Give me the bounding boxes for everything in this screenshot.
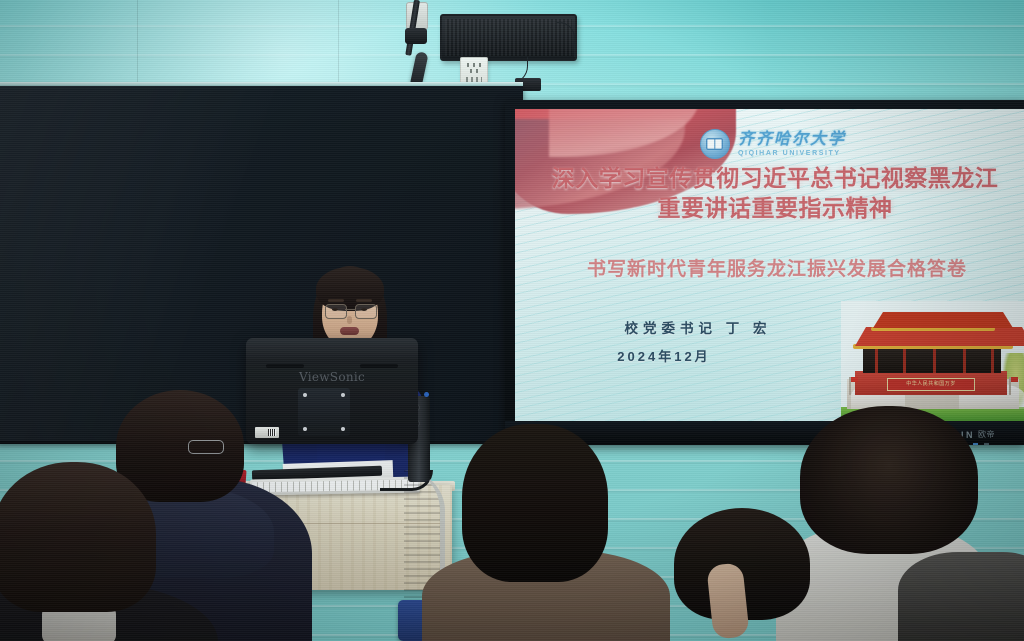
illustration-banner: 中华人民共和国万岁	[887, 378, 975, 391]
slide-title-line-2: 重要讲话重要指示精神	[523, 195, 1024, 225]
wall-seam	[137, 0, 138, 86]
vesa-screw	[341, 427, 345, 431]
slide-title-line-1: 深入学习宣传贯彻习近平总书记视察黑龙江	[523, 165, 1024, 195]
open-book-shape	[706, 138, 723, 150]
power-led-icon	[424, 392, 429, 397]
glasses-lens	[355, 304, 377, 319]
audience-hair	[462, 424, 608, 582]
presenter-eyebrow	[356, 299, 372, 302]
slide-date: 2024年12月	[515, 346, 813, 365]
monitor-vesa-plate	[298, 388, 350, 436]
illustration-column	[933, 345, 936, 373]
university-logo-text: 齐齐哈尔大学 QIQIHAR UNIVERSITY	[738, 131, 846, 157]
presenter-eyebrow	[328, 299, 344, 302]
lecture-hall-photo: 齐齐哈尔大学 QIQIHAR UNIVERSITY 深入学习宣传贯彻习近平总书记…	[0, 0, 1024, 641]
audience-vest	[898, 552, 1024, 641]
tiananmen-gate-illustration: 中华人民共和国万岁	[841, 301, 1024, 421]
audience-member-right-front	[646, 508, 846, 641]
wall-seam	[338, 0, 339, 86]
monitor-vent	[266, 364, 304, 368]
illustration-column	[991, 345, 994, 373]
university-name-cn: 齐齐哈尔大学	[738, 131, 846, 147]
interactive-flat-panel[interactable]: 齐齐哈尔大学 QIQIHAR UNIVERSITY 深入学习宣传贯彻习近平总书记…	[505, 100, 1024, 445]
university-name-en: QIQIHAR UNIVERSITY	[738, 150, 841, 157]
slide-subtitle: 书写新时代青年服务龙江振兴发展合格答卷	[523, 254, 1024, 281]
presentation-slide: 齐齐哈尔大学 QIQIHAR UNIVERSITY 深入学习宣传贯彻习近平总书记…	[515, 109, 1024, 421]
audience-member-front-left	[0, 462, 200, 641]
illustration-banner-text: 中华人民共和国万岁	[888, 379, 974, 390]
presenter-mouth	[340, 327, 359, 335]
glasses-bridge	[345, 309, 355, 310]
vesa-screw	[303, 427, 307, 431]
monitor-brand: ViewSonic	[246, 370, 418, 384]
slide-title: 深入学习宣传贯彻习近平总书记视察黑龙江 重要讲话重要指示精神	[523, 165, 1024, 225]
presenter-eye	[361, 308, 367, 311]
outlet-sockets	[466, 63, 482, 74]
illustration-flag	[1009, 377, 1011, 395]
illustration-column	[963, 345, 966, 373]
presenter-eye	[332, 308, 338, 311]
vesa-screw	[303, 393, 307, 397]
audience-hair	[0, 462, 156, 612]
presenter-nose	[347, 316, 352, 324]
illustration-column	[903, 345, 906, 373]
vesa-screw	[341, 393, 345, 397]
glasses-lens	[325, 304, 347, 319]
mic-boom-joint	[405, 28, 427, 44]
speaker-grill	[445, 19, 572, 56]
illustration-upper-roof	[873, 312, 1013, 328]
illustration-column	[875, 345, 878, 373]
book-emblem-icon	[700, 129, 730, 159]
monitor-vent	[360, 364, 398, 368]
eyeglasses-icon	[188, 440, 224, 454]
illustration-flag	[849, 377, 851, 395]
university-logo: 齐齐哈尔大学 QIQIHAR UNIVERSITY	[515, 129, 1024, 159]
audience-member-center	[428, 424, 678, 641]
slide-presenter: 校党委书记 丁 宏	[515, 317, 881, 337]
